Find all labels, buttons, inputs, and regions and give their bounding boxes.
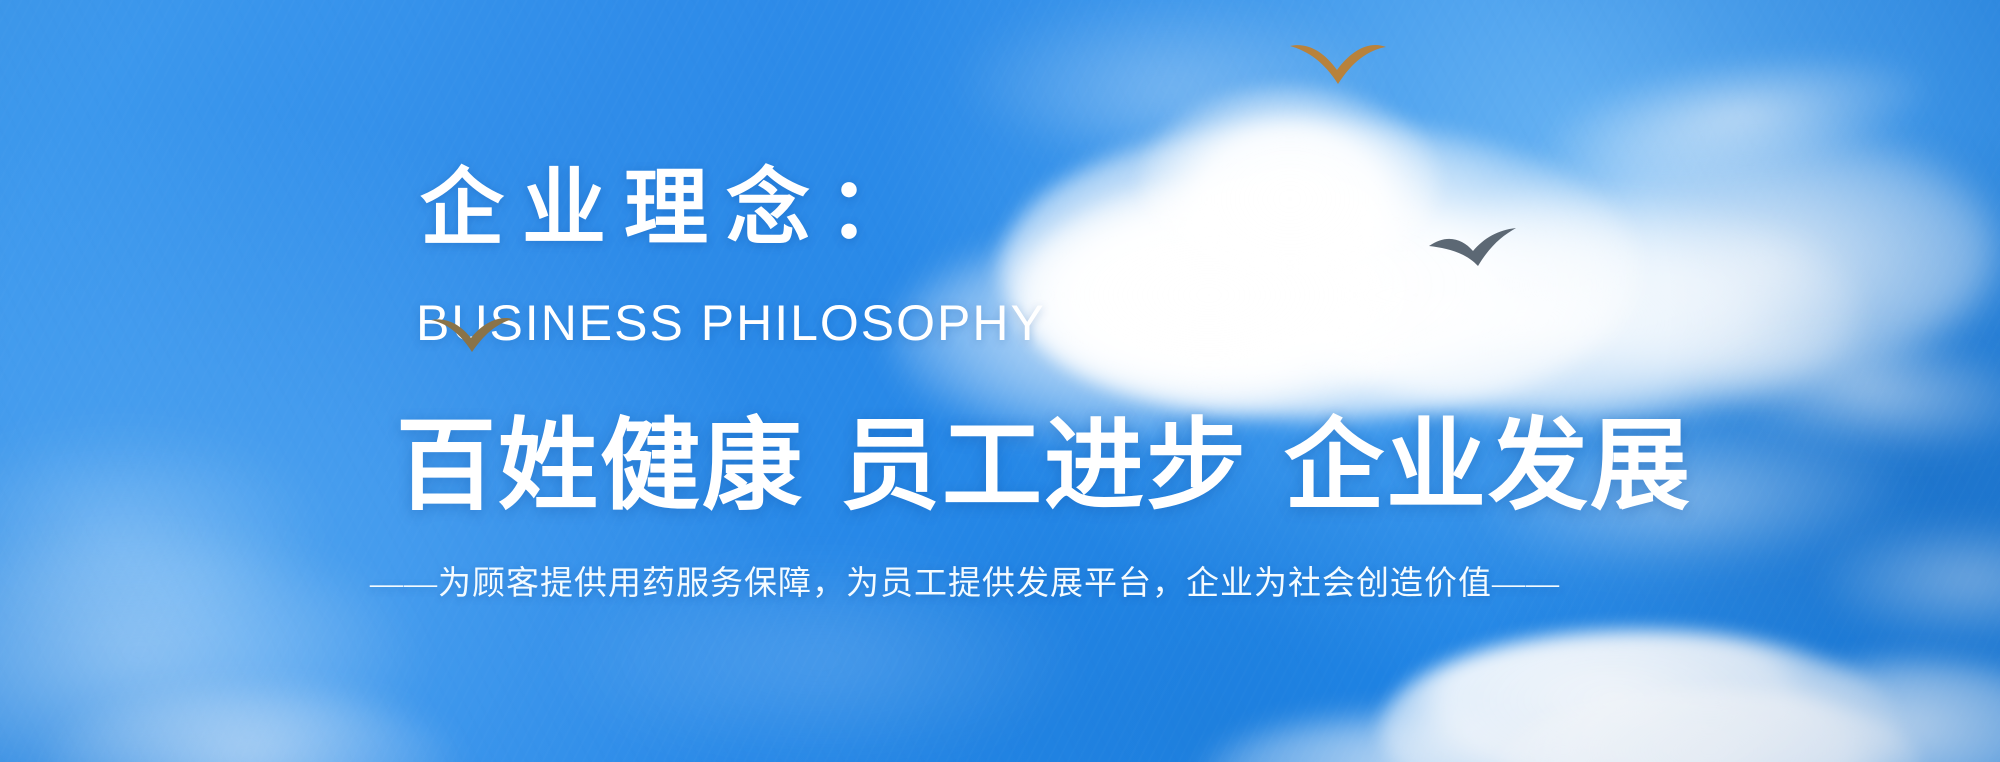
headline-part-2: 员工进步 [840, 410, 1248, 522]
headline-part-1: 百姓健康 [396, 410, 804, 522]
eyebrow-title-cn: 企业理念： [420, 166, 930, 250]
business-philosophy-banner: 企业理念： BUSINESS PHILOSOPHY 百姓健康员工进步企业发展 —… [0, 0, 2000, 762]
banner-text-content: 企业理念： BUSINESS PHILOSOPHY 百姓健康员工进步企业发展 —… [0, 0, 2000, 762]
tagline: ——为顾客提供用药服务保障，为员工提供发展平台，企业为社会创造价值—— [370, 568, 1560, 601]
eyebrow-title-en: BUSINESS PHILOSOPHY [416, 298, 1046, 348]
headline: 百姓健康员工进步企业发展 [396, 416, 1692, 516]
headline-part-3: 企业发展 [1284, 410, 1692, 522]
